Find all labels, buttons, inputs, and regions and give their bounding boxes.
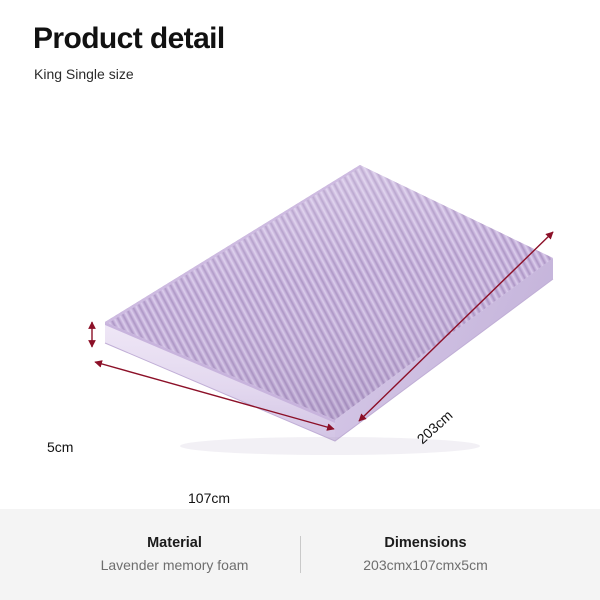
dimension-label-height: 5cm — [47, 440, 73, 454]
spec-dimensions-value: 203cmx107cmx5cm — [301, 555, 551, 577]
foam-body — [90, 155, 570, 455]
product-illustration: 5cm 107cm 203cm — [0, 110, 600, 510]
foam-deck — [90, 155, 570, 435]
page-subtitle: King Single size — [34, 67, 134, 81]
spec-dimensions: Dimensions 203cmx107cmx5cm — [301, 532, 551, 576]
spec-material-title: Material — [50, 532, 300, 554]
spec-dimensions-title: Dimensions — [301, 532, 551, 554]
product-detail-page: Product detail King Single size — [0, 0, 600, 600]
page-title: Product detail — [33, 24, 225, 54]
spec-material: Material Lavender memory foam — [50, 532, 300, 576]
spec-bar: Material Lavender memory foam Dimensions… — [0, 509, 600, 600]
spec-material-value: Lavender memory foam — [50, 555, 300, 577]
foam-shadow — [180, 437, 480, 455]
mattress-topper-diagram — [0, 110, 600, 510]
dimension-label-width: 107cm — [188, 491, 230, 505]
